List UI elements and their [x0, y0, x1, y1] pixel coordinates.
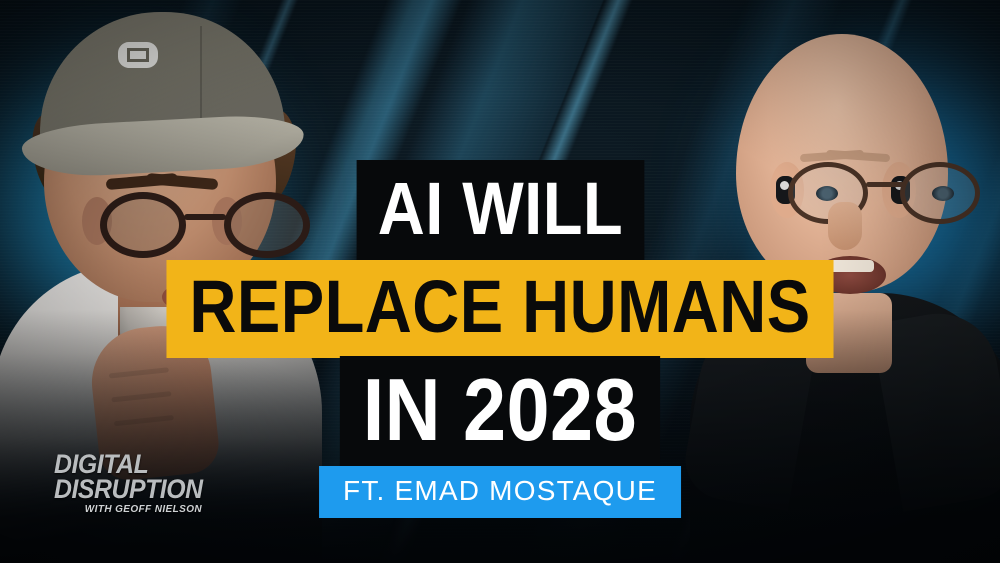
headline-block: AI WILL REPLACE HUMANS IN 2028 — [0, 160, 1000, 468]
show-logo: DIGITAL DISRUPTION WITH GEOFF NIELSON — [54, 452, 216, 515]
logo-line-2: DISRUPTION — [54, 477, 203, 502]
headline-line-3: IN 2028 — [340, 356, 660, 468]
video-thumbnail: AI WILL REPLACE HUMANS IN 2028 FT. EMAD … — [0, 0, 1000, 563]
guest-credit-banner: FT. EMAD MOSTAQUE — [319, 466, 681, 518]
headline-line-2: REPLACE HUMANS — [167, 260, 834, 358]
headline-line-1: AI WILL — [356, 160, 644, 262]
logo-tagline: WITH GEOFF NIELSON — [54, 504, 202, 515]
